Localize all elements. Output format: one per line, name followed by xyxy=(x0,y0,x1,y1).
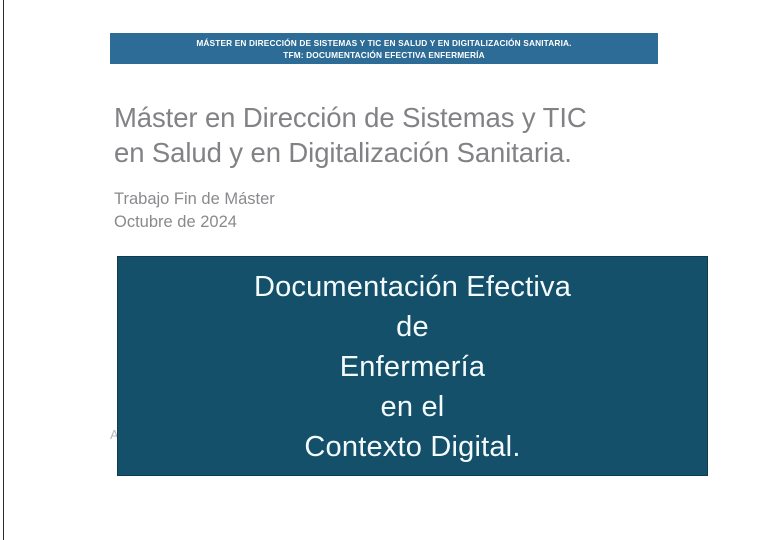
document-title-line-2: en Salud y en Digitalización Sanitaria. xyxy=(114,135,694,170)
document-title: Máster en Dirección de Sistemas y TIC en… xyxy=(114,100,694,170)
panel-line-1: Documentación Efectiva xyxy=(254,267,571,307)
document-title-line-1: Máster en Dirección de Sistemas y TIC xyxy=(114,100,694,135)
panel-line-5: Contexto Digital. xyxy=(304,427,520,467)
page-left-rule xyxy=(3,0,4,540)
panel-line-3: Enfermería xyxy=(340,347,485,387)
document-date-label: Octubre de 2024 xyxy=(114,211,534,234)
document-subtitle: Trabajo Fin de Máster Octubre de 2024 xyxy=(114,188,534,234)
running-head-band: MÁSTER EN DIRECCIÓN DE SISTEMAS Y TIC EN… xyxy=(110,33,658,64)
running-head-line-2: TFM: DOCUMENTACIÓN EFECTIVA ENFERMERÍA xyxy=(283,49,484,61)
running-head-line-1: MÁSTER EN DIRECCIÓN DE SISTEMAS Y TIC EN… xyxy=(196,37,571,49)
panel-line-2: de xyxy=(396,307,429,347)
panel-line-4: en el xyxy=(381,387,445,427)
document-cover-page: MÁSTER EN DIRECCIÓN DE SISTEMAS Y TIC EN… xyxy=(0,0,768,540)
thesis-title-panel: Documentación Efectiva de Enfermería en … xyxy=(117,256,708,476)
document-type-label: Trabajo Fin de Máster xyxy=(114,188,534,211)
